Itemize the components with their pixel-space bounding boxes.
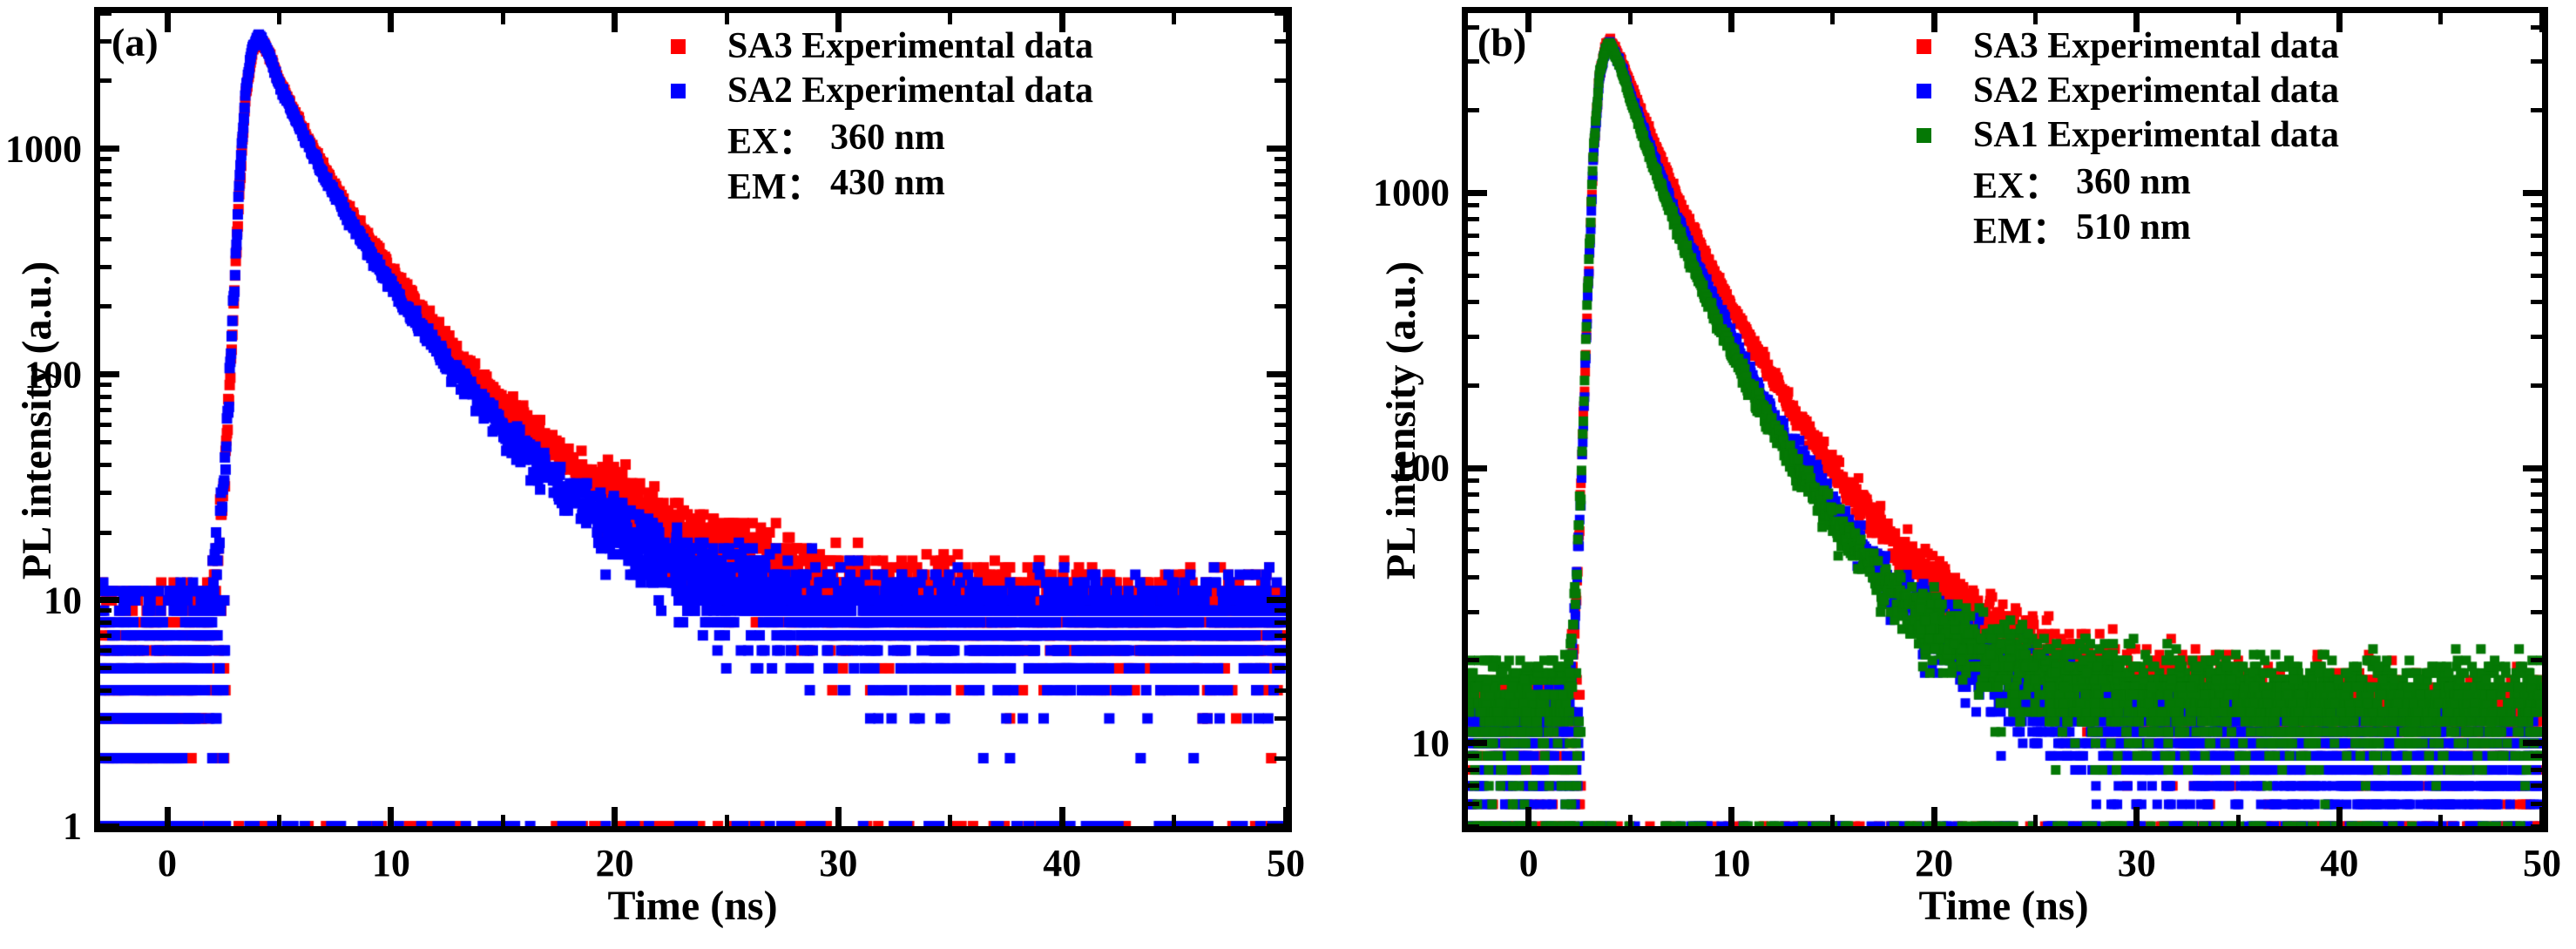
y-tick-minor — [1468, 203, 1479, 207]
y-tick-minor — [1468, 234, 1479, 238]
y-tick-minor — [100, 608, 112, 613]
y-tick-minor — [100, 304, 112, 308]
panel-b-legend: SA3 Experimental data SA2 Experimental d… — [1917, 26, 2339, 250]
y-tick-minor — [100, 13, 112, 16]
emission-annotation: EM： 510 nm — [1973, 205, 2339, 250]
x-tick-label: 40 — [1043, 841, 1081, 885]
y-tick-minor-right — [2531, 234, 2542, 238]
y-tick-major-right — [1267, 824, 1286, 827]
x-tick-major — [1728, 807, 1734, 826]
figure-root: (a) SA3 Experimental data SA2 Experiment… — [0, 0, 2576, 949]
y-tick-minor — [100, 531, 112, 535]
y-tick-minor — [100, 237, 112, 241]
x-tick-major — [612, 807, 618, 826]
y-tick-major — [1468, 465, 1487, 471]
x-tick-label: 40 — [2320, 841, 2358, 885]
y-tick-minor-right — [2531, 824, 2542, 827]
y-tick-minor-right — [1274, 169, 1286, 173]
y-tick-minor-right — [1274, 408, 1286, 412]
x-tick-major — [1931, 807, 1937, 826]
legend-item-label: SA1 Experimental data — [1973, 114, 2339, 156]
y-tick-minor-right — [1274, 648, 1286, 653]
y-tick-label: 1000 — [1373, 171, 1450, 215]
legend-swatch-square-icon — [1917, 128, 1931, 143]
y-tick-major-right — [2523, 190, 2542, 196]
x-tick-label: 10 — [1712, 841, 1750, 885]
legend-item[interactable]: SA1 Experimental data — [1917, 115, 2339, 155]
legend-item[interactable]: SA3 Experimental data — [671, 26, 1093, 66]
legend-swatch-square-icon — [1917, 39, 1931, 54]
y-tick-minor — [100, 423, 112, 427]
y-tick-minor — [100, 620, 112, 625]
y-tick-minor-right — [1274, 608, 1286, 613]
x-tick-major-top — [1728, 13, 1734, 32]
y-tick-minor-right — [2531, 274, 2542, 278]
excitation-value: 360 nm — [830, 117, 945, 159]
y-tick-minor-right — [2531, 492, 2542, 497]
y-tick-minor — [1468, 274, 1479, 278]
x-tick-major-top — [1525, 13, 1531, 32]
x-tick-minor — [1830, 815, 1835, 826]
legend-item[interactable]: SA2 Experimental data — [671, 71, 1093, 111]
y-tick-minor-right — [2531, 478, 2542, 483]
x-tick-major-top — [612, 13, 618, 32]
emission-value: 510 nm — [2076, 207, 2191, 248]
x-tick-minor-top — [725, 13, 729, 24]
y-tick-minor-right — [1274, 756, 1286, 761]
y-tick-minor — [100, 648, 112, 653]
y-tick-minor — [100, 666, 112, 670]
y-tick-minor-right — [1274, 620, 1286, 625]
panel-b-label: (b) — [1477, 19, 1526, 65]
y-tick-minor-right — [1274, 304, 1286, 308]
y-tick-minor-right — [2531, 802, 2542, 806]
y-tick-major-right — [2523, 740, 2542, 746]
panel-a-legend: SA3 Experimental data SA2 Experimental d… — [671, 26, 1093, 206]
y-tick-minor — [100, 182, 112, 186]
y-tick-minor-right — [1274, 13, 1286, 16]
x-tick-label: 30 — [819, 841, 857, 885]
x-tick-major-top — [388, 13, 394, 32]
y-tick-minor-right — [1274, 531, 1286, 535]
y-tick-minor — [100, 491, 112, 495]
y-tick-minor — [1468, 383, 1479, 388]
x-tick-major — [1059, 807, 1065, 826]
x-tick-label: 0 — [1519, 841, 1538, 885]
panel-b-x-axis-title: Time (ns) — [1918, 882, 2088, 930]
legend-item[interactable]: SA2 Experimental data — [1917, 71, 2339, 111]
y-tick-minor — [100, 265, 112, 269]
y-tick-minor — [1468, 549, 1479, 553]
y-tick-minor-right — [1274, 237, 1286, 241]
x-tick-minor — [277, 815, 281, 826]
x-tick-minor-top — [1628, 13, 1633, 24]
x-tick-minor-top — [2438, 13, 2443, 24]
y-tick-minor — [1468, 575, 1479, 580]
x-tick-minor — [948, 815, 952, 826]
y-tick-minor-right — [2531, 768, 2542, 772]
x-tick-minor-top — [277, 13, 281, 24]
x-tick-minor-top — [2236, 13, 2241, 24]
y-tick-minor — [100, 634, 112, 638]
y-tick-minor — [1468, 217, 1479, 221]
x-tick-major-top — [165, 13, 171, 32]
y-tick-minor — [1468, 300, 1479, 304]
y-tick-minor — [100, 395, 112, 399]
y-tick-minor — [100, 440, 112, 444]
y-tick-major-right — [1267, 371, 1286, 377]
y-tick-major — [100, 371, 119, 377]
y-tick-minor-right — [2531, 108, 2542, 112]
y-tick-minor-right — [1274, 666, 1286, 670]
y-tick-minor-right — [1274, 423, 1286, 427]
emission-value: 430 nm — [830, 162, 945, 204]
x-tick-minor-top — [2033, 13, 2038, 24]
y-tick-label: 10 — [1411, 721, 1450, 765]
y-tick-minor — [1468, 754, 1479, 758]
y-tick-label: 10 — [44, 578, 82, 622]
y-tick-minor — [100, 716, 112, 721]
y-tick-minor-right — [1274, 634, 1286, 638]
y-tick-label: 100 — [1392, 446, 1450, 491]
x-tick-major — [1525, 807, 1531, 826]
y-tick-minor-right — [1274, 265, 1286, 269]
y-tick-minor — [1468, 768, 1479, 772]
x-tick-major — [165, 807, 171, 826]
y-tick-minor-right — [2531, 217, 2542, 221]
y-tick-minor-right — [2531, 252, 2542, 256]
x-tick-major-top — [1283, 13, 1287, 32]
legend-swatch-square-icon — [1917, 84, 1931, 98]
y-tick-minor-right — [2531, 59, 2542, 64]
x-tick-label: 50 — [2523, 841, 2561, 885]
y-tick-minor — [1468, 492, 1479, 497]
y-tick-minor-right — [1274, 383, 1286, 387]
y-tick-major — [100, 146, 119, 152]
panel-a-y-axis-title: PL intensity (a.u.) — [13, 261, 61, 579]
y-tick-major — [100, 597, 119, 603]
legend-item-label: SA2 Experimental data — [727, 70, 1093, 112]
excitation-annotation: EX： 360 nm — [1973, 159, 2339, 205]
y-tick-minor — [1468, 783, 1479, 788]
x-tick-major — [388, 807, 394, 826]
legend-item[interactable]: SA3 Experimental data — [1917, 26, 2339, 66]
x-tick-label: 50 — [1267, 841, 1305, 885]
y-tick-minor-right — [2531, 527, 2542, 532]
y-tick-minor-right — [1274, 440, 1286, 444]
y-tick-minor-right — [2531, 575, 2542, 580]
y-tick-minor-right — [1274, 214, 1286, 219]
y-tick-label: 1000 — [5, 126, 82, 171]
legend-item-label: SA3 Experimental data — [727, 25, 1093, 67]
y-tick-minor — [100, 78, 112, 83]
y-tick-major-right — [1267, 597, 1286, 603]
y-tick-minor-right — [2531, 610, 2542, 614]
y-tick-minor-right — [2531, 203, 2542, 207]
y-tick-minor-right — [1274, 157, 1286, 161]
legend-swatch-square-icon — [671, 39, 686, 54]
y-tick-minor — [100, 197, 112, 201]
x-tick-major — [835, 807, 842, 826]
legend-item-label: SA2 Experimental data — [1973, 70, 2339, 112]
emission-key: EM： — [1973, 201, 2076, 254]
y-tick-minor-right — [2531, 549, 2542, 553]
x-tick-major — [2133, 807, 2140, 826]
y-tick-major-right — [2523, 465, 2542, 471]
y-tick-minor — [100, 756, 112, 761]
y-tick-major — [100, 824, 119, 827]
x-tick-minor-top — [501, 13, 505, 24]
y-tick-minor — [1468, 824, 1479, 827]
excitation-value: 360 nm — [2076, 161, 2191, 203]
legend-swatch-square-icon — [671, 84, 686, 98]
y-tick-major — [1468, 190, 1487, 196]
x-tick-minor — [501, 815, 505, 826]
y-tick-minor — [100, 39, 112, 44]
y-tick-minor-right — [1274, 78, 1286, 83]
x-tick-minor — [1172, 815, 1176, 826]
y-tick-minor-right — [2531, 754, 2542, 758]
y-tick-minor-right — [2531, 25, 2542, 30]
y-tick-minor-right — [1274, 716, 1286, 721]
panel-b: (b) SA3 Experimental data SA2 Experiment… — [1307, 0, 2576, 949]
y-tick-minor — [100, 169, 112, 173]
y-tick-minor — [100, 383, 112, 387]
y-tick-minor-right — [1274, 688, 1286, 693]
y-tick-minor — [1468, 658, 1479, 662]
y-tick-minor-right — [1274, 491, 1286, 495]
x-tick-minor — [2438, 815, 2443, 826]
x-tick-major — [2336, 807, 2343, 826]
y-tick-major — [1468, 740, 1487, 746]
y-tick-minor-right — [2531, 509, 2542, 513]
x-tick-minor-top — [1830, 13, 1835, 24]
y-tick-minor-right — [2531, 300, 2542, 304]
y-tick-label: 100 — [24, 352, 82, 397]
x-tick-minor — [2236, 815, 2241, 826]
y-tick-minor-right — [2531, 335, 2542, 339]
y-tick-minor — [1468, 509, 1479, 513]
y-tick-minor-right — [1274, 197, 1286, 201]
y-tick-minor — [100, 157, 112, 161]
emission-key: EM： — [727, 157, 830, 210]
x-tick-label: 10 — [372, 841, 410, 885]
y-tick-minor-right — [1274, 463, 1286, 467]
y-tick-minor — [100, 688, 112, 693]
emission-annotation: EM： 430 nm — [727, 160, 1093, 206]
x-tick-label: 0 — [158, 841, 177, 885]
y-tick-minor — [1468, 527, 1479, 532]
x-tick-label: 30 — [2118, 841, 2156, 885]
y-tick-minor — [1468, 802, 1479, 806]
panel-b-y-axis-title: PL intensity (a.u.) — [1377, 261, 1425, 579]
y-tick-minor — [100, 463, 112, 467]
legend-item-label: SA3 Experimental data — [1973, 25, 2339, 67]
x-tick-minor-top — [1172, 13, 1176, 24]
x-tick-label: 20 — [1915, 841, 1953, 885]
x-tick-minor — [1628, 815, 1633, 826]
y-tick-minor — [1468, 108, 1479, 112]
y-tick-minor — [1468, 478, 1479, 483]
y-tick-minor-right — [2531, 658, 2542, 662]
y-tick-minor-right — [2531, 783, 2542, 788]
y-tick-minor — [100, 214, 112, 219]
x-tick-minor — [725, 815, 729, 826]
y-tick-minor-right — [1274, 39, 1286, 44]
y-tick-minor — [1468, 335, 1479, 339]
panel-a-label: (a) — [112, 19, 159, 65]
x-tick-label: 20 — [596, 841, 634, 885]
y-tick-minor — [1468, 252, 1479, 256]
excitation-annotation: EX： 360 nm — [727, 115, 1093, 160]
y-tick-minor-right — [1274, 395, 1286, 399]
y-tick-major-right — [1267, 146, 1286, 152]
x-tick-minor — [2033, 815, 2038, 826]
y-tick-minor — [1468, 610, 1479, 614]
y-tick-minor-right — [2531, 383, 2542, 388]
panel-a: (a) SA3 Experimental data SA2 Experiment… — [0, 0, 1307, 949]
x-tick-major-top — [2539, 13, 2543, 32]
panel-a-x-axis-title: Time (ns) — [607, 882, 777, 930]
y-tick-minor-right — [1274, 182, 1286, 186]
x-tick-minor-top — [948, 13, 952, 24]
y-tick-minor — [100, 408, 112, 412]
y-tick-label: 1 — [63, 804, 82, 849]
